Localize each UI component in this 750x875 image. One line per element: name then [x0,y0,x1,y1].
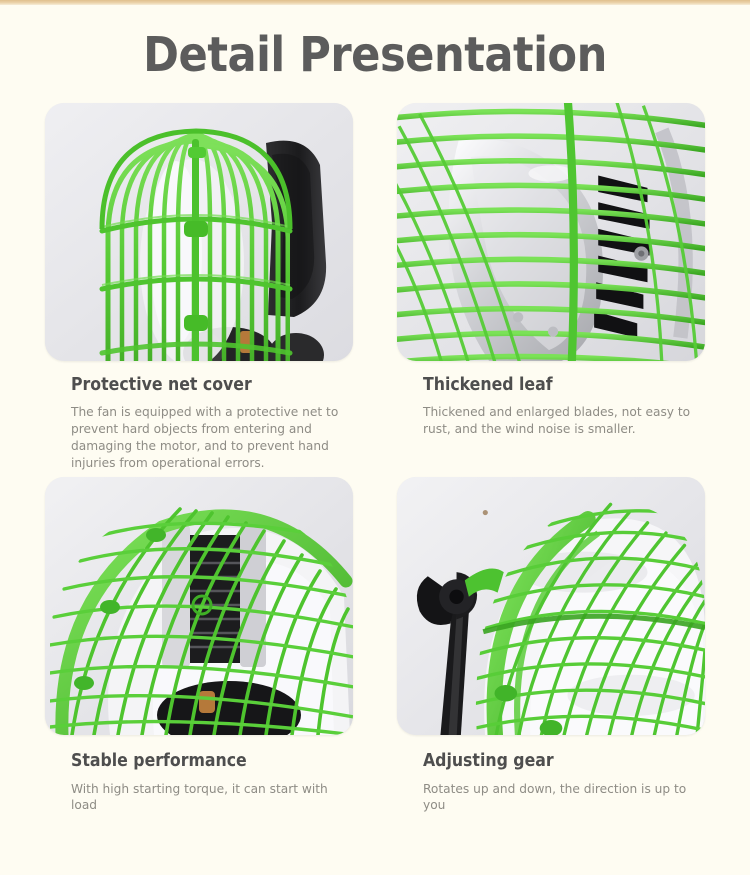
feature-image-protective-net-cover[interactable] [45,103,353,361]
feature-caption-thickened-leaf: Thickened leaf Thickened and enlarged bl… [397,361,705,438]
feature-body: With high starting torque, it can start … [71,781,353,815]
detail-presentation-page: Detail Presentation [0,0,750,875]
feature-card-adjusting-gear[interactable]: Adjusting gear Rotates up and down, the … [397,477,705,814]
feature-caption-adjusting-gear: Adjusting gear Rotates up and down, the … [397,735,705,814]
feature-card-stable-performance[interactable]: Stable performance With high starting to… [45,477,353,814]
feature-body: Thickened and enlarged blades, not easy … [423,404,705,438]
top-accent-band [0,0,750,5]
feature-caption-stable-performance: Stable performance With high starting to… [45,735,353,814]
feature-card-protective-net-cover[interactable]: Protective net cover The fan is equipped… [45,103,353,471]
feature-body: The fan is equipped with a protective ne… [71,404,353,471]
feature-title: Adjusting gear [423,751,705,771]
feature-image-adjusting-gear[interactable] [397,477,705,735]
feature-image-thickened-leaf[interactable] [397,103,705,361]
feature-card-thickened-leaf[interactable]: Thickened leaf Thickened and enlarged bl… [397,103,705,471]
feature-body: Rotates up and down, the direction is up… [423,781,705,815]
feature-grid: Protective net cover The fan is equipped… [45,103,705,814]
feature-image-stable-performance[interactable] [45,477,353,735]
fan-cage-side-illustration [45,103,353,361]
fan-adjusting-knob-illustration [397,477,705,735]
fan-blade-closeup-illustration [397,103,705,361]
feature-title: Thickened leaf [423,375,705,395]
fan-motor-grill-illustration [45,477,353,735]
feature-title: Stable performance [71,751,353,771]
feature-caption-protective-net-cover: Protective net cover The fan is equipped… [45,361,353,471]
page-title: Detail Presentation [45,0,705,103]
feature-title: Protective net cover [71,375,353,395]
